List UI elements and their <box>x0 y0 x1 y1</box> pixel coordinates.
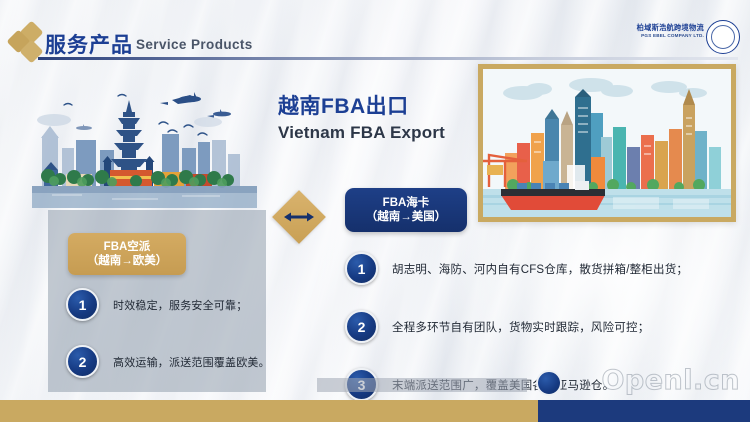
bullet-number: 1 <box>66 288 99 321</box>
bullet-text: 高效运输，派送范围覆盖欧美。 <box>113 354 270 370</box>
bullet-text: 全程多环节自有团队，货物实时跟踪，风险可控； <box>392 319 649 335</box>
watermark-text: Openl.cn <box>601 365 740 396</box>
fba-sea-badge-line1: FBA海卡 <box>383 196 430 210</box>
list-item: 1 时效稳定，服务安全可靠； <box>66 288 276 321</box>
bullet-text: 胡志明、海防、河内自有CFS仓库，散货拼箱/整柜出货； <box>392 261 688 277</box>
footer-gold-segment <box>0 400 538 422</box>
footer-circle-mark <box>536 370 562 396</box>
header-title-cn: 服务产品 <box>45 29 133 59</box>
bullet-number: 2 <box>345 310 378 343</box>
left-bullet-list: 1 时效稳定，服务安全可靠； 2 高效运输，派送范围覆盖欧美。 <box>66 288 276 402</box>
slide-root: 服务产品 Service Products 柏域斯浩航跨境物流 PGS EBEL… <box>0 0 750 422</box>
brand-name-cn: 柏域斯浩航跨境物流 <box>637 23 704 33</box>
fba-air-badge-line1: FBA空派 <box>104 240 151 254</box>
right-bullet-list: 1 胡志明、海防、河内自有CFS仓库，散货拼箱/整柜出货； 2 全程多环节自有团… <box>345 252 715 422</box>
bullet-number: 2 <box>66 345 99 378</box>
fba-sea-badge-line2: （越南→美国） <box>366 210 447 224</box>
bullet-text: 时效稳定，服务安全可靠； <box>113 297 247 313</box>
list-item: 1 胡志明、海防、河内自有CFS仓库，散货拼箱/整柜出货； <box>345 252 715 285</box>
page-title: 越南FBA出口 Vietnam FBA Export <box>278 90 445 143</box>
fba-air-badge[interactable]: FBA空派 （越南→欧美） <box>68 233 186 275</box>
footer-navy-segment <box>538 400 750 422</box>
company-seal-icon <box>706 20 740 54</box>
brand-lockup: 柏域斯浩航跨境物流 PGS EBEL COMPANY LTD. <box>600 22 740 56</box>
header-title-en: Service Products <box>136 37 253 52</box>
header-divider <box>38 57 738 60</box>
brand-name-en: PGS EBEL COMPANY LTD. <box>641 33 704 38</box>
page-title-cn: 越南FBA出口 <box>278 90 445 120</box>
vietnam-skyline-illustration <box>22 78 267 218</box>
footer-gray-block <box>317 378 527 392</box>
list-item: 2 高效运输，派送范围覆盖欧美。 <box>66 345 276 378</box>
footer-bar <box>0 400 750 422</box>
fba-air-badge-line2: （越南→欧美） <box>87 254 168 268</box>
header: 服务产品 Service Products 柏域斯浩航跨境物流 PGS EBEL… <box>0 0 750 70</box>
list-item: 2 全程多环节自有团队，货物实时跟踪，风险可控； <box>345 310 715 343</box>
bullet-number: 1 <box>345 252 378 285</box>
city-skyline-photo <box>478 64 736 222</box>
fba-sea-badge[interactable]: FBA海卡 （越南→美国） <box>345 188 467 232</box>
double-headed-arrow-icon <box>280 198 318 236</box>
page-title-en: Vietnam FBA Export <box>278 123 445 143</box>
